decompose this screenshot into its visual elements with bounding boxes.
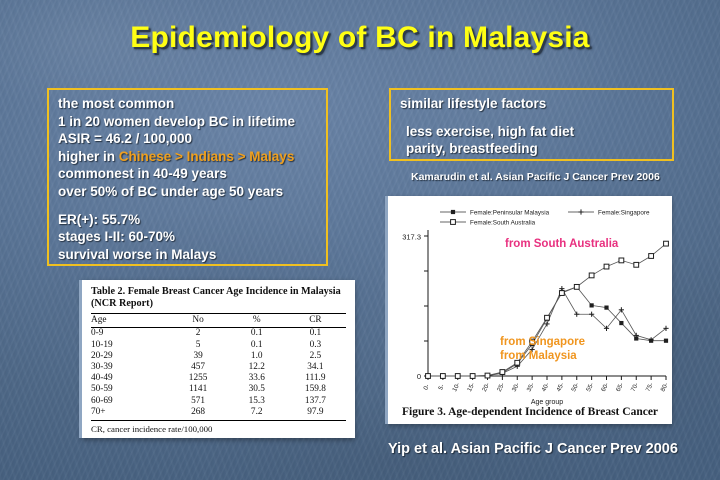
table-row: 60-6957115.3137.7 [91,395,346,406]
data-point-2 [649,254,654,259]
x-tick-label: 40- [540,382,550,393]
legend-label-1: Female:Singapore [598,210,650,217]
x-tick-label: 80- [659,382,669,393]
y-tick-label-min: 0 [417,372,421,381]
data-point-2 [574,284,579,289]
table-col-pct: % [229,313,285,327]
table-cell: 268 [168,406,229,419]
left-line-spacer [58,201,326,211]
left-line-1: the most common [58,95,326,113]
table-cell: 571 [168,395,229,406]
data-point-2 [470,374,475,379]
right-box-spacer [400,113,672,123]
x-tick-label: 65- [615,382,625,393]
annotation-south-australia: from South Australia [505,238,618,250]
table-cell: 457 [168,361,229,372]
x-tick-label: 20- [481,382,491,393]
x-tick-label: 75- [645,382,655,393]
annotation-singapore: from Singapore [500,336,585,348]
legend-label-0: Female:Peninsular Malaysia [470,210,550,217]
citation-yip: Yip et al. Asian Pacific J Cancer Prev 2… [388,441,678,457]
x-tick-label: 50- [570,382,580,393]
x-tick-label: 5- [437,383,446,391]
table-row: 30-3945712.234.1 [91,361,346,372]
data-point-2 [485,373,490,378]
x-tick-label: 45- [555,382,565,393]
right-box-line-1: less exercise, high fat diet [400,123,672,141]
data-point-2 [634,262,639,267]
table-cell: 0-9 [91,327,168,339]
citation-kamarudin: Kamarudin et al. Asian Pacific J Cancer … [411,171,660,183]
table-cell: 30.5 [229,384,285,395]
table-cell: 12.2 [229,361,285,372]
annotation-malaysia: from Malaysia [500,350,577,362]
data-point-2 [559,291,564,296]
x-tick-label: 55- [585,382,595,393]
ncr-table: Age No % CR 0-920.10.110-1950.10.320-293… [91,313,346,419]
data-point-2 [664,241,669,246]
table-title: Table 2. Female Breast Cancer Age Incide… [91,286,346,311]
table-footnote: CR, cancer incidence rate/100,000 [91,421,346,434]
table-row: 0-920.10.1 [91,327,346,339]
data-point-2 [545,315,550,320]
x-tick-label: 30- [511,382,521,393]
left-line-2: 1 in 20 women develop BC in lifetime [58,113,326,131]
x-tick-label: 10- [451,382,461,393]
table-cell: 30-39 [91,361,168,372]
right-box-line-2: parity, breastfeeding [400,140,672,158]
table-head: Age No % CR [91,313,346,327]
table-col-age: Age [91,313,168,327]
data-point-0 [590,303,594,307]
table-cell: 7.2 [229,406,285,419]
data-point-0 [619,321,623,325]
table-cell: 111.9 [285,373,346,384]
left-line-4: higher in Chinese > Indians > Malays [58,148,326,166]
left-line-7: ER(+): 55.7% [58,211,326,229]
table-cell: 15.3 [229,395,285,406]
left-line-6: over 50% of BC under age 50 years [58,183,326,201]
table-cell: 10-19 [91,339,168,350]
x-tick-label: 35- [526,382,536,393]
table-cell: 0.1 [229,327,285,339]
page-title: Epidemiology of BC in Malaysia [0,21,720,55]
table-cell: 2 [168,327,229,339]
data-point-legend-2 [451,220,456,225]
x-tick-label: 25- [496,382,506,393]
table-cell: 137.7 [285,395,346,406]
table-cell: 39 [168,350,229,361]
table-cell: 20-29 [91,350,168,361]
table-cell: 5 [168,339,229,350]
series-line-0 [428,287,666,376]
figure-caption: Figure 3. Age-dependent Incidence of Bre… [388,406,672,418]
table-row: 40-49125533.6111.9 [91,373,346,384]
table-cell: 33.6 [229,373,285,384]
data-point-2 [604,264,609,269]
table-cell: 40-49 [91,373,168,384]
ethnicity-ranking: Chinese > Indians > Malays [119,149,295,164]
table-cell: 1141 [168,384,229,395]
table-row: 20-29391.02.5 [91,350,346,361]
table-cell: 159.8 [285,384,346,395]
slide-canvas: Epidemiology of BC in Malaysia the most … [0,0,720,480]
right-box-heading: similar lifestyle factors [400,95,672,113]
data-point-2 [440,374,445,379]
data-point-0 [664,339,668,343]
incidence-line-chart: 317.300-5-10-15-20-25-30-35-40-45-50-55-… [388,196,672,424]
x-tick-label: 60- [600,382,610,393]
left-content-box: the most common 1 in 20 women develop BC… [47,88,328,266]
table-cell: 0.3 [285,339,346,350]
table-cell: 1255 [168,373,229,384]
data-point-2 [500,370,505,375]
y-tick-label-max: 317.3 [402,233,421,242]
left-line-8: stages I-II: 60-70% [58,228,326,246]
left-line-5: commonest in 40-49 years [58,165,326,183]
table-header-row: Age No % CR [91,313,346,327]
left-line-9: survival worse in Malays [58,246,326,264]
table-cell: 60-69 [91,395,168,406]
left-line-3: ASIR = 46.2 / 100,000 [58,130,326,148]
table-cell: 0.1 [285,327,346,339]
ncr-table-panel: Table 2. Female Breast Cancer Age Incide… [82,280,355,438]
table-cell: 50-59 [91,384,168,395]
data-point-2 [619,258,624,263]
table-col-cr: CR [285,313,346,327]
left-line-4-prefix: higher in [58,149,119,164]
legend-label-2: Female:South Australia [470,220,536,227]
incidence-chart-panel: 317.300-5-10-15-20-25-30-35-40-45-50-55-… [388,196,672,424]
data-point-legend-0 [451,210,455,214]
x-tick-label: 70- [630,382,640,393]
table-cell: 2.5 [285,350,346,361]
table-row: 10-1950.10.3 [91,339,346,350]
table-cell: 0.1 [229,339,285,350]
table-body: 0-920.10.110-1950.10.320-29391.02.530-39… [91,327,346,419]
table-col-no: No [168,313,229,327]
data-point-0 [604,306,608,310]
table-row: 70+2687.297.9 [91,406,346,419]
table-cell: 97.9 [285,406,346,419]
right-content-box: similar lifestyle factors less exercise,… [389,88,674,161]
x-tick-label: 0- [422,383,431,391]
table-cell: 1.0 [229,350,285,361]
x-tick-label: 15- [466,382,476,393]
data-point-2 [455,374,460,379]
data-point-2 [589,273,594,278]
table-cell: 70+ [91,406,168,419]
table-row: 50-59114130.5159.8 [91,384,346,395]
x-axis-label: Age group [531,399,563,406]
table-cell: 34.1 [285,361,346,372]
data-point-2 [426,374,431,379]
